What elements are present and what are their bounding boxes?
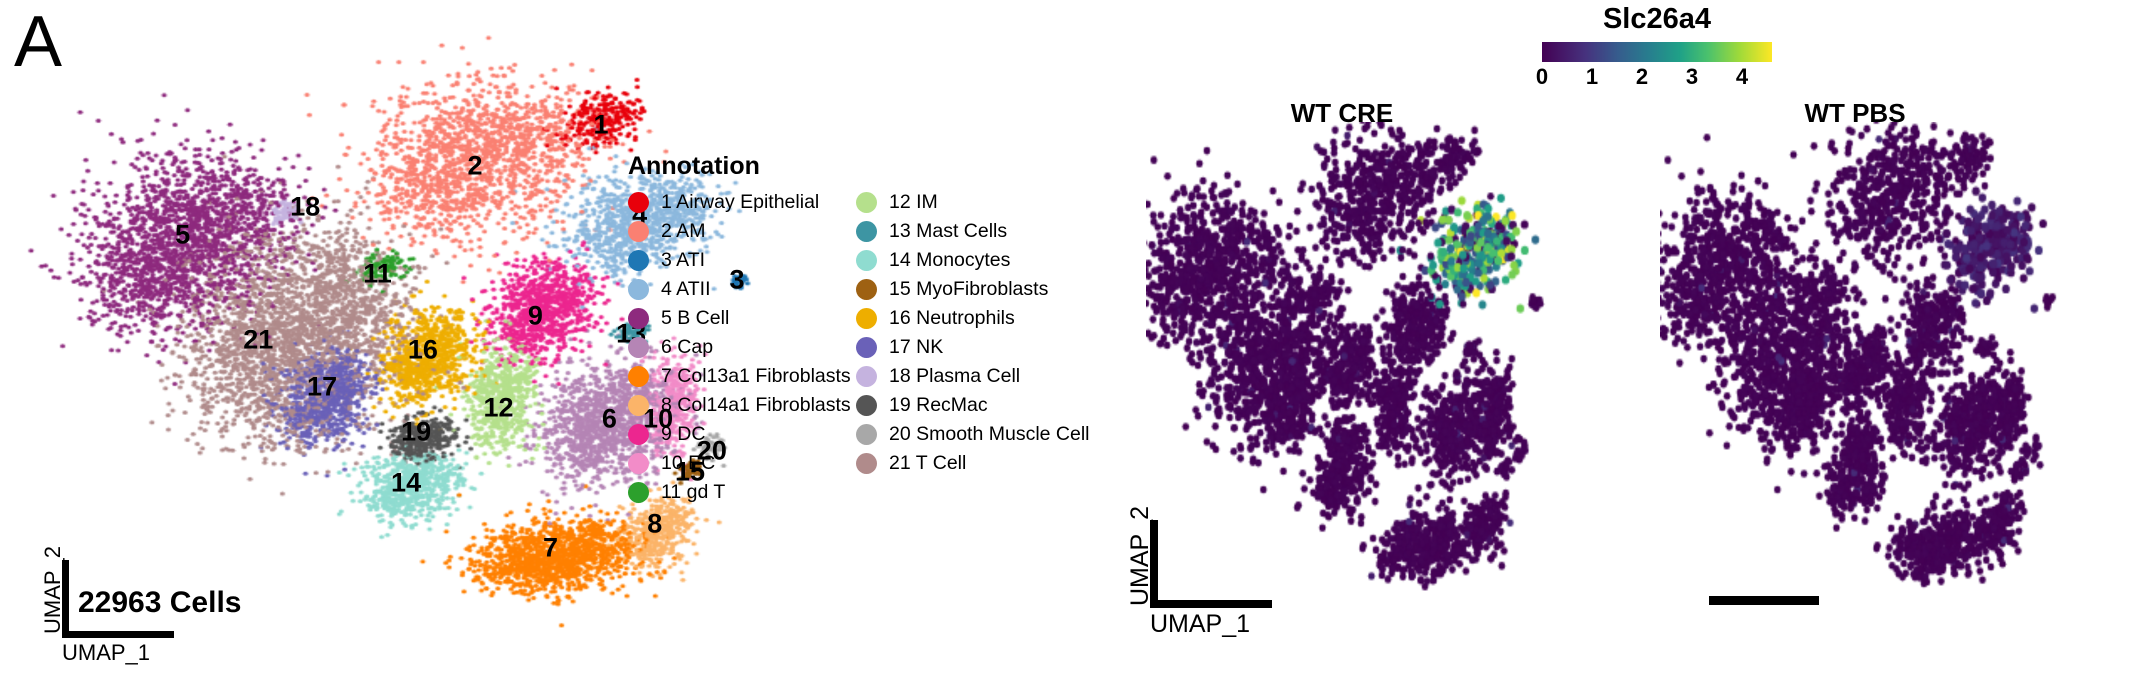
axis-x-label-b: UMAP_1 [1150,610,1250,639]
colorbar-tick-0: 0 [1536,64,1548,90]
legend-item-13[interactable]: 13 Mast Cells [856,217,1090,246]
scale-bar [1709,596,1819,605]
legend-item-14[interactable]: 14 Monocytes [856,246,1090,275]
legend-swatch-icon [628,482,649,503]
annotation-legend: Annotation 1 Airway Epithelial2 AM3 ATI4… [628,152,1088,482]
cluster-label-19: 19 [401,417,431,448]
legend-item-19[interactable]: 19 RecMac [856,391,1090,420]
legend-swatch-icon [628,250,649,271]
cluster-label-6: 6 [602,403,617,434]
legend-swatch-icon [628,453,649,474]
axis-x-bar [62,631,174,638]
cluster-label-5: 5 [175,219,190,250]
legend-item-label: 7 Col13a1 Fibroblasts [661,367,851,387]
legend-item-label: 10 EC [661,454,715,474]
legend-item-20[interactable]: 20 Smooth Muscle Cell [856,420,1090,449]
cluster-label-9: 9 [528,301,543,332]
colorbar-gradient [1542,42,1772,62]
colorbar-tick-2: 2 [1636,64,1648,90]
legend-item-label: 12 IM [889,193,938,213]
legend-item-label: 3 ATI [661,251,705,271]
umap-axis-indicator-b: UMAP_1 UMAP_2 [1126,520,1326,640]
panel-b: B Slc26a4 01234 WT CRE WT PBS UMAP_1 UMA… [1090,0,2131,676]
legend-item-label: 4 ATII [661,280,711,300]
legend-item-label: 19 RecMac [889,396,988,416]
axis-x-label-a: UMAP_1 [62,640,150,666]
legend-swatch-icon [856,453,877,474]
axis-x-bar [1150,600,1272,608]
legend-item-label: 6 Cap [661,338,713,358]
legend-item-label: 17 NK [889,338,943,358]
cluster-label-2: 2 [467,151,482,182]
legend-item-12[interactable]: 12 IM [856,188,1090,217]
legend-item-2[interactable]: 2 AM [628,217,851,246]
legend-item-label: 13 Mast Cells [889,222,1007,242]
legend-item-label: 2 AM [661,222,705,242]
legend-item-1[interactable]: 1 Airway Epithelial [628,188,851,217]
legend-swatch-icon [628,192,649,213]
legend-item-label: 1 Airway Epithelial [661,193,819,213]
legend-item-label: 18 Plasma Cell [889,367,1020,387]
legend-item-label: 21 T Cell [889,454,966,474]
axis-y-label-a: UMAP_2 [40,546,66,634]
legend-item-21[interactable]: 21 T Cell [856,449,1090,478]
cluster-label-17: 17 [307,372,337,403]
legend-swatch-icon [628,337,649,358]
legend-swatch-icon [628,221,649,242]
legend-swatch-icon [628,424,649,445]
legend-item-label: 11 gd T [661,483,725,503]
legend-item-label: 5 B Cell [661,309,729,329]
legend-column-2: 12 IM13 Mast Cells14 Monocytes15 MyoFibr… [856,188,1090,478]
legend-swatch-icon [628,308,649,329]
legend-item-label: 15 MyoFibroblasts [889,280,1048,300]
legend-swatch-icon [856,308,877,329]
colorbar-tick-labels: 01234 [1542,64,1772,92]
legend-item-17[interactable]: 17 NK [856,333,1090,362]
cluster-label-16: 16 [408,335,438,366]
legend-column-1: 1 Airway Epithelial2 AM3 ATI4 ATII5 B Ce… [628,188,851,507]
gene-name-title: Slc26a4 [1507,4,1807,36]
legend-item-10[interactable]: 10 EC [628,449,851,478]
legend-swatch-icon [856,192,877,213]
cluster-label-8: 8 [647,508,662,539]
cluster-label-18: 18 [290,192,320,223]
legend-item-11[interactable]: 11 gd T [628,478,851,507]
legend-item-4[interactable]: 4 ATII [628,275,851,304]
legend-swatch-icon [856,424,877,445]
cell-count-label: 22963 Cells [78,586,241,620]
legend-item-6[interactable]: 6 Cap [628,333,851,362]
legend-swatch-icon [856,395,877,416]
legend-item-label: 9 DC [661,425,705,445]
legend-swatch-icon [856,337,877,358]
legend-item-label: 20 Smooth Muscle Cell [889,425,1090,445]
legend-item-18[interactable]: 18 Plasma Cell [856,362,1090,391]
legend-title: Annotation [628,152,760,181]
legend-swatch-icon [628,395,649,416]
cluster-label-14: 14 [391,467,421,498]
legend-swatch-icon [856,221,877,242]
legend-item-15[interactable]: 15 MyoFibroblasts [856,275,1090,304]
legend-swatch-icon [628,279,649,300]
legend-swatch-icon [856,366,877,387]
colorbar-tick-1: 1 [1586,64,1598,90]
legend-item-9[interactable]: 9 DC [628,420,851,449]
cluster-label-11: 11 [363,259,392,290]
legend-item-label: 14 Monocytes [889,251,1010,271]
legend-item-8[interactable]: 8 Col14a1 Fibroblasts [628,391,851,420]
colorbar-tick-4: 4 [1736,64,1748,90]
colorbar-tick-3: 3 [1686,64,1698,90]
cluster-label-1: 1 [593,110,608,141]
expression-colorbar: Slc26a4 01234 [1507,4,1807,92]
legend-item-label: 16 Neutrophils [889,309,1015,329]
legend-item-label: 8 Col14a1 Fibroblasts [661,396,851,416]
legend-swatch-icon [628,366,649,387]
cluster-label-21: 21 [243,324,273,355]
legend-item-16[interactable]: 16 Neutrophils [856,304,1090,333]
legend-swatch-icon [856,279,877,300]
panel-a: A 123456789101112131415161718192021 UMAP… [0,0,1090,676]
legend-swatch-icon [856,250,877,271]
cluster-label-12: 12 [483,392,513,423]
cluster-label-7: 7 [543,533,558,564]
axis-y-label-b: UMAP_2 [1126,506,1155,606]
legend-item-5[interactable]: 5 B Cell [628,304,851,333]
legend-item-7[interactable]: 7 Col13a1 Fibroblasts [628,362,851,391]
legend-item-3[interactable]: 3 ATI [628,246,851,275]
umap-expression-scatter-wt-pbs [1660,122,2090,592]
